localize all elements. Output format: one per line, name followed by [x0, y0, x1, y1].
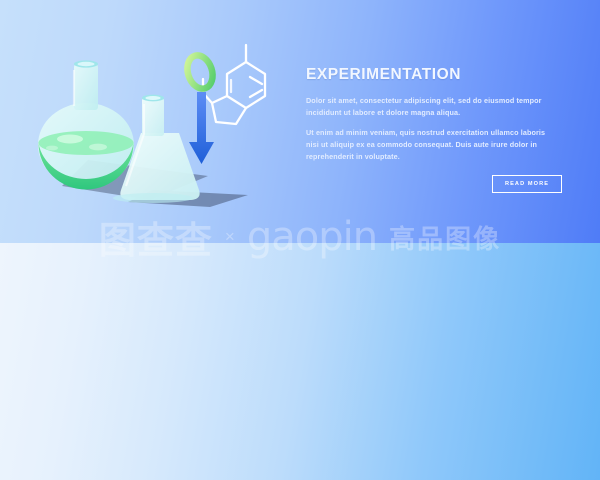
- banner-set: EXPERIMENTATION Dolor sit amet, consecte…: [0, 0, 600, 480]
- read-more-button-top[interactable]: READ MORE: [492, 175, 562, 193]
- experimentation-text-block: EXPERIMENTATION Dolor sit amet, consecte…: [306, 66, 558, 171]
- molecule-ring-icon: [183, 52, 216, 92]
- body-paragraph-2: Ut enim ad minim veniam, quis nostrud ex…: [306, 127, 558, 162]
- research-and-development-banner: RESEARCH AND DEVELOPMENT Dolor sit amet,…: [0, 243, 600, 480]
- round-bottom-flask-icon: [38, 60, 134, 189]
- body-paragraph-1: Dolor sit amet, consectetur adipiscing e…: [306, 95, 558, 118]
- page-title: EXPERIMENTATION: [306, 66, 558, 83]
- experimentation-banner: EXPERIMENTATION Dolor sit amet, consecte…: [0, 0, 600, 243]
- experimentation-illustration: [0, 0, 300, 243]
- down-arrow-icon: [189, 92, 214, 164]
